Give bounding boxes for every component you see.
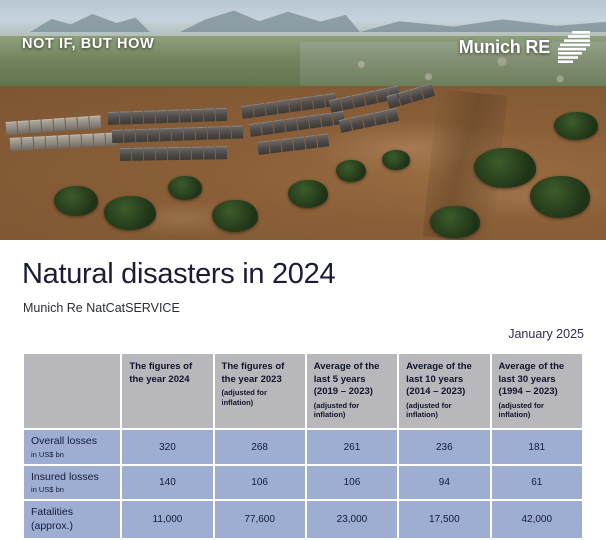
rooftop-row [120,146,227,161]
cell-insured-losses-avg30: 61 [492,466,582,500]
cell-fatalities-avg10: 17,500 [399,501,489,537]
tree-clump [104,196,156,230]
page-title: Natural disasters in 2024 [22,258,335,291]
tree-clump [168,176,202,200]
tree-clump [212,200,258,232]
tree-clump [336,160,366,182]
natcat-figures-table-wrapper: The figures of the year 2024 The figures… [22,352,584,540]
column-header-avg-5-years: Average of the last 5 years (2019 – 2023… [307,354,397,428]
table-row: Overall losses in US$ bn 320 268 261 236… [24,430,582,464]
tree-clump [474,148,536,188]
tree-clump [430,206,480,238]
row-label-overall-losses: Overall losses in US$ bn [24,430,120,464]
cell-fatalities-2023: 77,600 [215,501,305,537]
table-header-row: The figures of the year 2024 The figures… [24,354,582,428]
document-date: January 2025 [508,327,584,341]
table-row: Fatalities (approx.) 11,000 77,600 23,00… [24,501,582,537]
hero-tagline: NOT IF, BUT HOW [22,36,154,52]
document-body: Natural disasters in 2024 Munich Re NatC… [0,240,606,508]
cell-overall-losses-2023: 268 [215,430,305,464]
cell-overall-losses-avg5: 261 [307,430,397,464]
cell-overall-losses-avg10: 236 [399,430,489,464]
tree-clump [554,112,598,140]
cell-overall-losses-avg30: 181 [492,430,582,464]
column-header-avg-10-years: Average of the last 10 years (2014 – 202… [399,354,489,428]
cell-insured-losses-avg10: 94 [399,466,489,500]
row-label-insured-losses: Insured losses in US$ bn [24,466,120,500]
table-row: Insured losses in US$ bn 140 106 106 94 … [24,466,582,500]
brand-wordmark: Munich RE [459,37,550,58]
column-header-2024: The figures of the year 2024 [122,354,212,428]
row-label-fatalities: Fatalities (approx.) [24,501,120,537]
cell-insured-losses-2023: 106 [215,466,305,500]
munich-re-bars-logo [558,30,590,64]
column-header-2023: The figures of the year 2023 (adjusted f… [215,354,305,428]
cell-insured-losses-avg5: 106 [307,466,397,500]
hero-banner: NOT IF, BUT HOW Munich RE [0,0,606,240]
tree-clump [288,180,328,208]
column-header-avg-30-years: Average of the last 30 years (1994 – 202… [492,354,582,428]
munich-re-logo: Munich RE [459,30,590,64]
tree-clump [382,150,410,170]
cell-fatalities-2024: 11,000 [122,501,212,537]
page-subtitle: Munich Re NatCatSERVICE [23,301,180,315]
cell-fatalities-avg5: 23,000 [307,501,397,537]
cell-fatalities-avg30: 42,000 [492,501,582,537]
cell-insured-losses-2024: 140 [122,466,212,500]
tree-clump [54,186,98,216]
column-header-corner [24,354,120,428]
tree-clump [530,176,590,218]
cell-overall-losses-2024: 320 [122,430,212,464]
natcat-figures-table: The figures of the year 2024 The figures… [22,352,584,540]
